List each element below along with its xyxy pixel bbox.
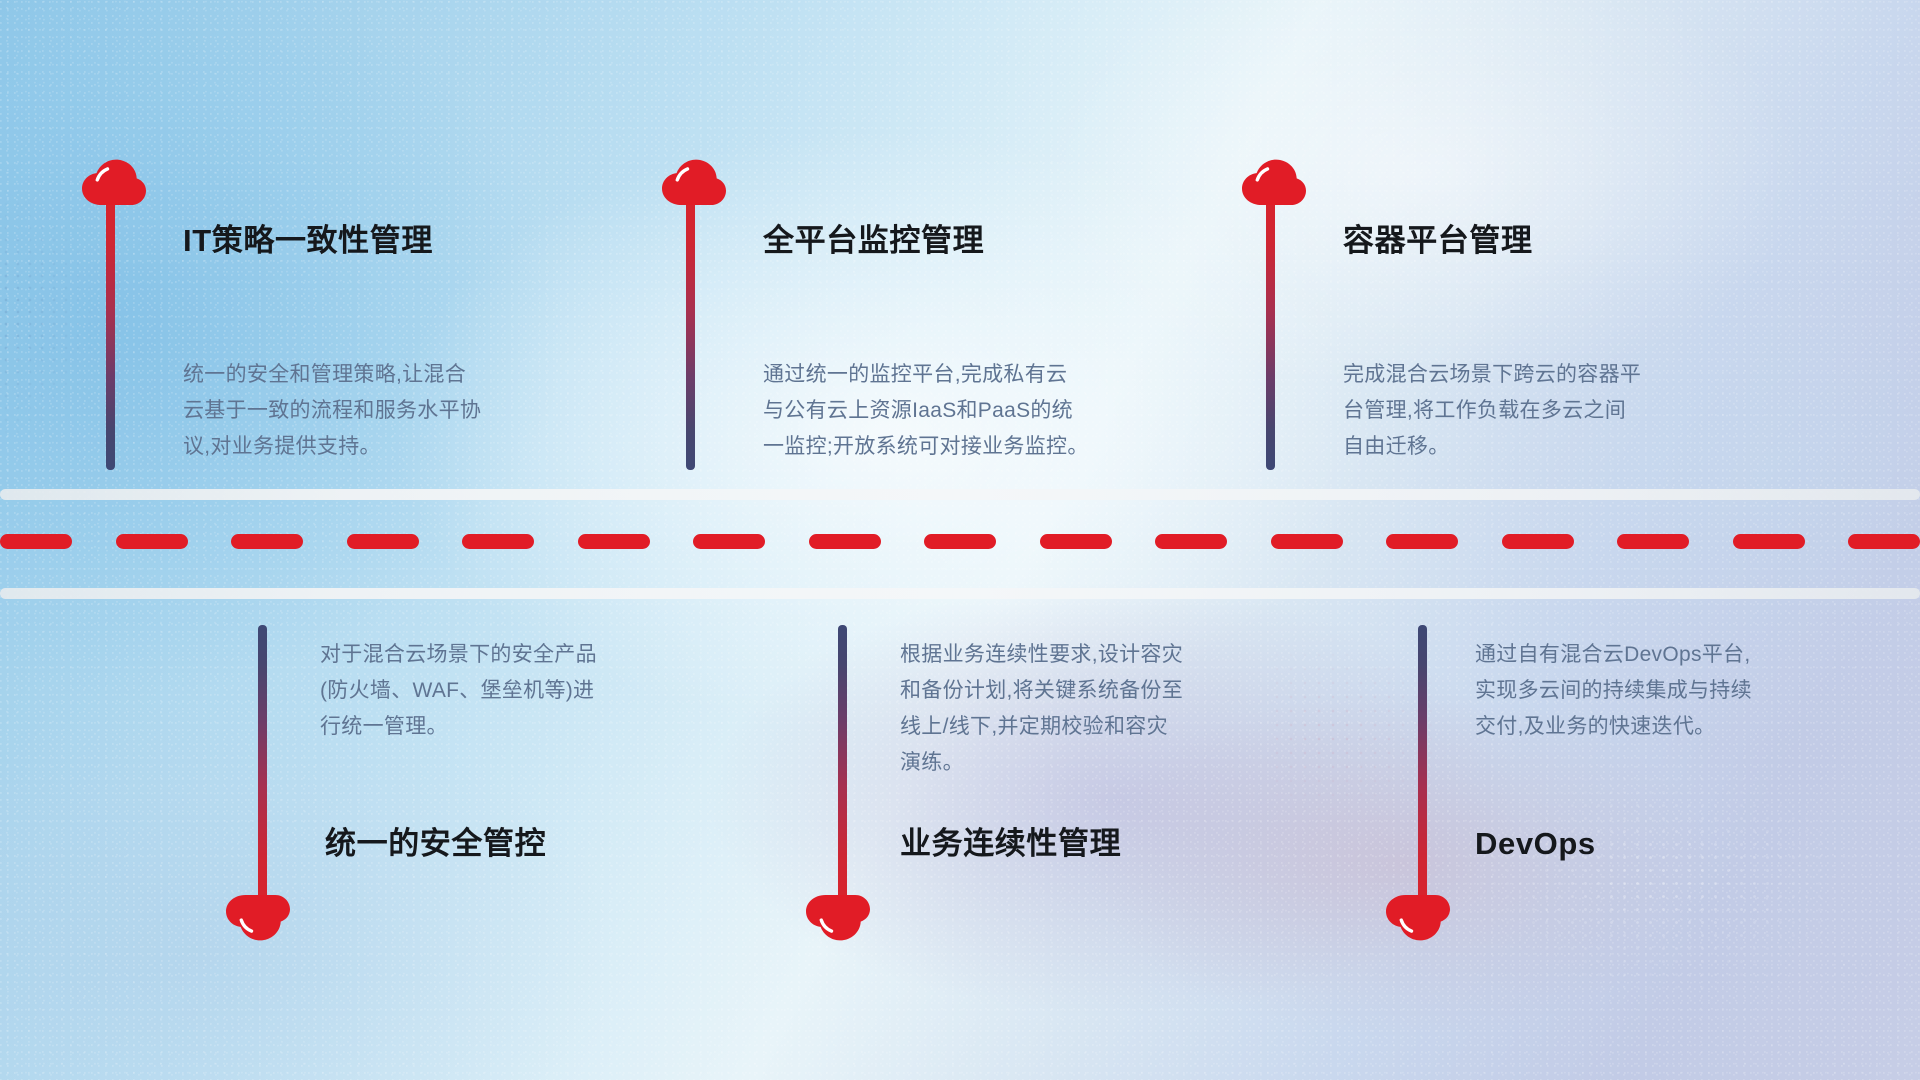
card-body: 通过自有混合云DevOps平台,实现多云间的持续集成与持续交付,及业务的快速迭代… [1475, 637, 1905, 745]
card-body-line: 完成混合云场景下跨云的容器平 [1343, 357, 1763, 393]
card-title: DevOps [1475, 825, 1596, 862]
card-body-line: 自由迁移。 [1343, 429, 1763, 465]
road-dash-segment [231, 534, 303, 549]
road-dash-segment [1848, 534, 1920, 549]
card-body-line: 台管理,将工作负载在多云之间 [1343, 393, 1763, 429]
road-dash-segment [347, 534, 419, 549]
card-body-line: 和备份计划,将关键系统备份至 [900, 673, 1330, 709]
road-edge-line-bottom [0, 588, 1920, 599]
road-dash-segment [924, 534, 996, 549]
cloud-pin-icon [805, 894, 871, 942]
marker-stem [1418, 625, 1427, 902]
marker-stem [106, 200, 115, 470]
card-body-line: 通过自有混合云DevOps平台, [1475, 637, 1905, 673]
card-body: 对于混合云场景下的安全产品(防火墙、WAF、堡垒机等)进行统一管理。 [320, 637, 750, 745]
card-body-line: 行统一管理。 [320, 709, 750, 745]
cloud-pin-icon [81, 158, 147, 206]
road-dash-segment [1271, 534, 1343, 549]
card-body-line: 演练。 [900, 745, 1330, 781]
road-dash-segment [0, 534, 72, 549]
road-dash-segment [693, 534, 765, 549]
road-dash-segment [1733, 534, 1805, 549]
card-body-line: 线上/线下,并定期校验和容灾 [900, 709, 1330, 745]
cloud-pin-icon [1241, 158, 1307, 206]
infographic-canvas: IT策略一致性管理统一的安全和管理策略,让混合云基于一致的流程和服务水平协议,对… [0, 0, 1920, 1080]
card-body-line: 一监控;开放系统可对接业务监控。 [763, 429, 1183, 465]
road-center-dashed-line [0, 533, 1920, 549]
marker-stem [838, 625, 847, 902]
road-dash-segment [578, 534, 650, 549]
card-body-line: 根据业务连续性要求,设计容灾 [900, 637, 1330, 673]
road-dash-segment [1386, 534, 1458, 549]
card-body-line: (防火墙、WAF、堡垒机等)进 [320, 673, 750, 709]
card-body: 完成混合云场景下跨云的容器平台管理,将工作负载在多云之间自由迁移。 [1343, 357, 1763, 465]
marker-stem [258, 625, 267, 902]
card-body-line: 统一的安全和管理策略,让混合 [183, 357, 603, 393]
cloud-pin-icon [225, 894, 291, 942]
road-dash-segment [1155, 534, 1227, 549]
card-title: 统一的安全管控 [325, 825, 546, 862]
card-title: 容器平台管理 [1343, 222, 1533, 259]
card-body-line: 交付,及业务的快速迭代。 [1475, 709, 1905, 745]
card-body: 根据业务连续性要求,设计容灾和备份计划,将关键系统备份至线上/线下,并定期校验和… [900, 637, 1330, 781]
card-title: IT策略一致性管理 [183, 222, 433, 259]
card-body: 通过统一的监控平台,完成私有云与公有云上资源IaaS和PaaS的统一监控;开放系… [763, 357, 1183, 465]
card-title: 业务连续性管理 [900, 825, 1121, 862]
road-edge-line-top [0, 489, 1920, 500]
road-dash-segment [462, 534, 534, 549]
road-dash-segment [809, 534, 881, 549]
card-body: 统一的安全和管理策略,让混合云基于一致的流程和服务水平协议,对业务提供支持。 [183, 357, 603, 465]
marker-stem [1266, 200, 1275, 470]
card-title: 全平台监控管理 [763, 222, 984, 259]
card-body-line: 通过统一的监控平台,完成私有云 [763, 357, 1183, 393]
cloud-pin-icon [661, 158, 727, 206]
road-dash-segment [1502, 534, 1574, 549]
cloud-pin-icon [1385, 894, 1451, 942]
road-dash-segment [116, 534, 188, 549]
road-dash-segment [1040, 534, 1112, 549]
card-body-line: 实现多云间的持续集成与持续 [1475, 673, 1905, 709]
card-body-line: 对于混合云场景下的安全产品 [320, 637, 750, 673]
road-divider [0, 489, 1920, 599]
road-dash-segment [1617, 534, 1689, 549]
card-body-line: 与公有云上资源IaaS和PaaS的统 [763, 393, 1183, 429]
card-body-line: 云基于一致的流程和服务水平协 [183, 393, 603, 429]
marker-stem [686, 200, 695, 470]
card-body-line: 议,对业务提供支持。 [183, 429, 603, 465]
